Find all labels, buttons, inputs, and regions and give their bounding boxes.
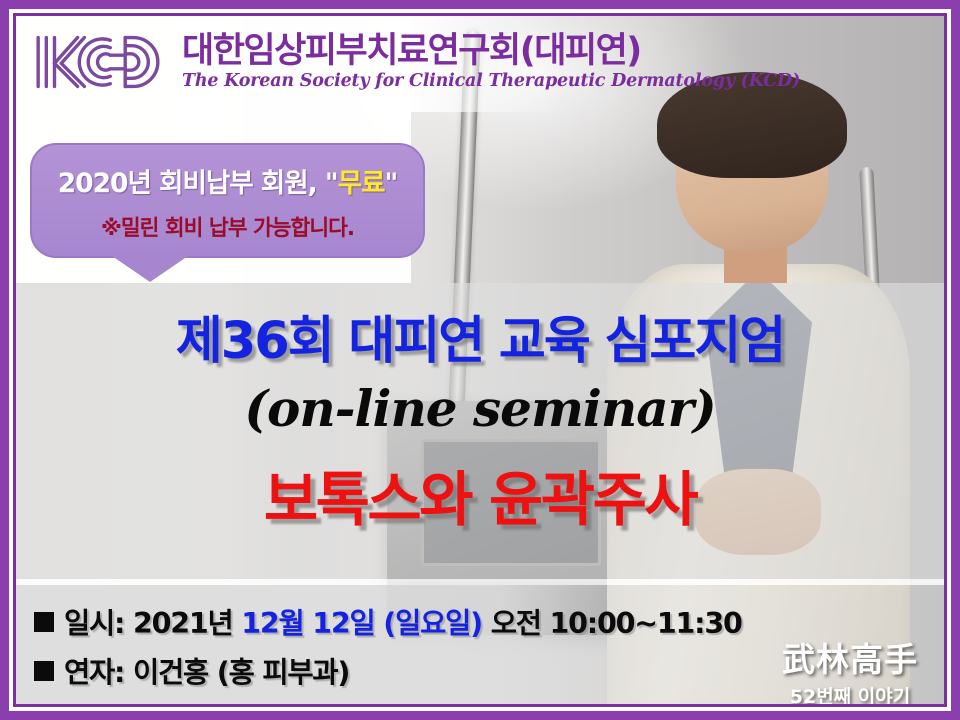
speaker-label: 연자:	[64, 656, 124, 689]
info-bar: 일시: 2021년 12월 12일 (일요일) 오전 10:00~11:30 연…	[16, 585, 944, 704]
title-block: 제36회 대피연 교육 심포지엄 (on-line seminar) 보톡스와 …	[16, 299, 944, 537]
date-year: 2021년	[133, 607, 233, 640]
event-subtitle: (on-line seminar)	[16, 379, 944, 438]
date-highlight: 12월 12일 (일요일)	[241, 607, 482, 640]
seminar-poster: 대한임상피부치료연구회(대피연) The Korean Society for …	[0, 0, 960, 720]
organization-name: 대한임상피부치료연구회(대피연) The Korean Society for …	[182, 34, 800, 91]
event-topic: 보톡스와 윤곽주사	[16, 452, 944, 537]
date-time: 오전 10:00~11:30	[491, 607, 742, 640]
series-episode: 52번째 이야기	[782, 682, 918, 704]
fee-callout-line1: 2020년 회비납부 회원, "무료"	[46, 161, 409, 200]
info-speaker-line: 연자: 이건홍 (홍 피부과)	[34, 650, 349, 691]
speaker-value: 이건홍 (홍 피부과)	[133, 656, 349, 689]
series-title: 武林高手	[782, 633, 918, 681]
callout-tail-icon	[112, 256, 188, 282]
fee-callout: 2020년 회비납부 회원, "무료" ※밀린 회비 납부 가능합니다.	[30, 143, 425, 258]
bullet-square-icon	[34, 612, 54, 632]
fee-quote-close: "	[384, 168, 397, 199]
kcd-logo-icon	[30, 29, 166, 95]
poster-stage: 대한임상피부치료연구회(대피연) The Korean Society for …	[16, 16, 944, 704]
organization-name-english: The Korean Society for Clinical Therapeu…	[182, 73, 800, 91]
date-label: 일시:	[64, 607, 124, 640]
fee-callout-bubble: 2020년 회비납부 회원, "무료" ※밀린 회비 납부 가능합니다.	[30, 143, 425, 258]
fee-callout-prefix: 2020년 회비납부 회원,	[58, 168, 325, 199]
fee-free-label: 무료	[338, 168, 385, 199]
fee-quote-open: "	[325, 168, 338, 199]
organization-name-korean: 대한임상피부치료연구회(대피연)	[182, 34, 800, 69]
series-watermark: 武林高手 52번째 이야기	[782, 633, 918, 704]
fee-callout-line2: ※밀린 회비 납부 가능합니다.	[46, 211, 409, 242]
poster-header: 대한임상피부치료연구회(대피연) The Korean Society for …	[16, 16, 944, 108]
info-date-line: 일시: 2021년 12월 12일 (일요일) 오전 10:00~11:30	[34, 601, 742, 642]
event-title: 제36회 대피연 교육 심포지엄	[16, 299, 944, 373]
bullet-square-icon	[34, 661, 54, 681]
